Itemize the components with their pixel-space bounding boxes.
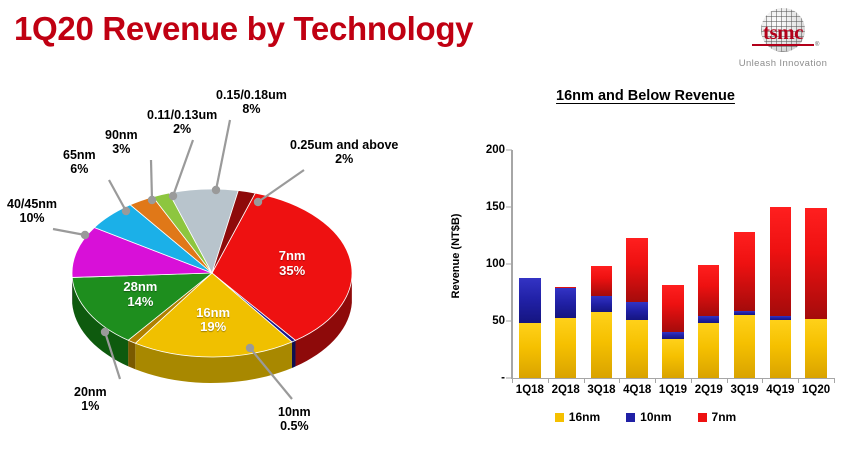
pie-slice-percent: 2% [335, 152, 353, 166]
pie-slice-percent: 0.5% [280, 419, 309, 433]
pie-leader-dot [148, 196, 156, 204]
bar-segment-16nm [519, 323, 540, 378]
pie-chart-svg [0, 80, 440, 457]
x-axis-tick-label: 1Q18 [516, 384, 544, 396]
pie-leader-dot [81, 231, 89, 239]
pie-slice-name: 16nm [196, 305, 230, 320]
slide-root: 1Q20 Revenue by Technology tsmc ® Unleas… [0, 0, 851, 457]
legend-swatch-icon [626, 413, 635, 422]
bar-segment-16nm [662, 339, 683, 378]
pie-slice-name: 90nm [105, 128, 138, 142]
x-axis-tick-label: 3Q19 [730, 384, 758, 396]
bar-segment-10nm [519, 278, 540, 324]
x-axis-tick-label: 4Q19 [766, 384, 794, 396]
pie-slice-percent: 1% [81, 399, 99, 413]
legend-item-10nm[interactable]: 10nm [626, 410, 671, 424]
stacked-bar[interactable] [519, 278, 540, 378]
pie-slice-name: 28nm [123, 279, 157, 294]
legend-label: 10nm [640, 410, 671, 424]
pie-callout-label: 40/45nm10% [7, 197, 57, 225]
y-axis-tick-mark [506, 321, 512, 322]
x-axis-tick-mark [619, 378, 620, 383]
pie-leader-line [109, 180, 126, 211]
pie-slice-percent: 10% [20, 211, 45, 225]
pie-leader-dot [212, 186, 220, 194]
x-axis-tick-mark [798, 378, 799, 383]
y-axis-tick-mark [506, 150, 512, 151]
pie-callout-label: 20nm1% [74, 385, 107, 413]
bar-chart-panel: 16nm and Below Revenue Revenue (NT$B) -5… [440, 80, 851, 457]
y-axis-tick-label: 200 [486, 144, 505, 156]
pie-slice-label: 16nm19% [173, 306, 253, 335]
tsmc-wordmark: tsmc [763, 20, 803, 45]
bar-segment-16nm [734, 315, 755, 378]
bar-chart-title: 16nm and Below Revenue [440, 88, 851, 104]
bar-segment-10nm [626, 302, 647, 320]
y-axis-tick-mark [506, 207, 512, 208]
pie-slice-name: 0.11/0.13um [147, 108, 217, 122]
pie-leader-line [216, 120, 230, 190]
bar-segment-16nm [805, 319, 826, 378]
bar-segment-16nm [770, 320, 791, 378]
stacked-bar[interactable] [698, 265, 719, 378]
bar-segment-10nm [555, 288, 576, 318]
legend-label: 16nm [569, 410, 600, 424]
bar-segment-10nm [591, 296, 612, 312]
page-title: 1Q20 Revenue by Technology [14, 10, 473, 48]
x-axis-tick-label: 3Q18 [587, 384, 615, 396]
y-axis-tick-label: 100 [486, 258, 505, 270]
bar-segment-16nm [626, 320, 647, 378]
y-axis-tick-mark [506, 264, 512, 265]
x-axis-tick-mark [727, 378, 728, 383]
y-axis-tick-label: - [501, 372, 505, 384]
bar-segment-16nm [591, 312, 612, 378]
pie-leader-dot [101, 328, 109, 336]
pie-slice-label: 28nm14% [100, 280, 180, 309]
bar-segment-7nm [770, 207, 791, 316]
x-axis-tick-mark [834, 378, 835, 383]
pie-slice-percent: 35% [279, 263, 305, 278]
bar-segment-10nm [698, 316, 719, 323]
y-axis-tick-label: 150 [486, 201, 505, 213]
pie-leader-line [173, 140, 193, 196]
stacked-bar[interactable] [591, 266, 612, 378]
x-axis-tick-mark [584, 378, 585, 383]
pie-chart-panel: 7nm35%10nm0.5%16nm19%20nm1%28nm14%40/45n… [0, 80, 440, 457]
x-axis-tick-mark [548, 378, 549, 383]
pie-slice-side [128, 340, 135, 369]
x-axis-tick-label: 2Q18 [552, 384, 580, 396]
pie-slice-percent: 8% [242, 102, 260, 116]
bar-segment-16nm [555, 318, 576, 378]
pie-leader-dot [122, 207, 130, 215]
bar-segment-7nm [698, 265, 719, 316]
bar-segment-7nm [626, 238, 647, 302]
pie-leader-line [151, 160, 152, 200]
bar-segment-10nm [662, 332, 683, 339]
pie-slice-percent: 2% [173, 122, 191, 136]
bar-segment-7nm [805, 208, 826, 319]
y-axis-title: Revenue (NT$B) [450, 196, 462, 316]
y-axis-tick-label: 50 [492, 315, 505, 327]
legend-swatch-icon [698, 413, 707, 422]
bar-segment-7nm [591, 266, 612, 296]
bar-segment-16nm [698, 323, 719, 378]
pie-leader-dot [254, 198, 262, 206]
pie-slice-percent: 6% [70, 162, 88, 176]
stacked-bar[interactable] [555, 287, 576, 378]
x-axis-tick-mark [691, 378, 692, 383]
pie-callout-label: 65nm6% [63, 148, 96, 176]
pie-slice-name: 40/45nm [7, 197, 57, 211]
tsmc-logo: tsmc ® Unleash Innovation [723, 8, 843, 69]
x-axis-tick-label: 2Q19 [695, 384, 723, 396]
stacked-bar[interactable] [626, 238, 647, 378]
stacked-bar[interactable] [662, 285, 683, 378]
logo-tagline: Unleash Innovation [723, 58, 843, 69]
legend-label: 7nm [712, 410, 737, 424]
pie-slice-percent: 19% [200, 319, 226, 334]
pie-slice-name: 0.15/0.18um [216, 88, 287, 102]
x-axis-tick-mark [762, 378, 763, 383]
x-axis-tick-mark [655, 378, 656, 383]
pie-callout-label: 0.11/0.13um2% [147, 108, 217, 136]
x-axis-tick-mark [512, 378, 513, 383]
bar-chart-legend: 16nm10nm7nm [440, 410, 851, 424]
logo-mark: tsmc ® [723, 8, 843, 52]
pie-slice-label: 7nm35% [252, 249, 332, 278]
pie-callout-label: 0.15/0.18um8% [216, 88, 287, 116]
bar-segment-7nm [734, 232, 755, 311]
legend-item-16nm[interactable]: 16nm [555, 410, 600, 424]
stacked-bar[interactable] [805, 208, 826, 378]
pie-slice-name: 20nm [74, 385, 107, 399]
pie-leader-dot [169, 192, 177, 200]
pie-callout-label: 0.25um and above2% [290, 138, 398, 166]
legend-swatch-icon [555, 413, 564, 422]
pie-slice-name: 65nm [63, 148, 96, 162]
bar-segment-7nm [662, 285, 683, 333]
pie-leader-dot [246, 344, 254, 352]
x-axis-tick-label: 1Q19 [659, 384, 687, 396]
pie-leader-line [258, 170, 304, 202]
pie-callout-label: 90nm3% [105, 128, 138, 156]
pie-slice-percent: 14% [127, 294, 153, 309]
pie-slice-name: 0.25um and above [290, 138, 398, 152]
stacked-bar[interactable] [734, 232, 755, 378]
stacked-bar[interactable] [770, 207, 791, 378]
pie-slice-percent: 3% [112, 142, 130, 156]
pie-slice-name: 10nm [278, 405, 311, 419]
logo-underline [752, 44, 814, 46]
x-axis-tick-label: 1Q20 [802, 384, 830, 396]
legend-item-7nm[interactable]: 7nm [698, 410, 737, 424]
pie-leader-line [53, 229, 85, 235]
pie-callout-label: 10nm0.5% [278, 405, 311, 433]
bar-plot-area: -50100150200 1Q182Q183Q184Q181Q192Q193Q1… [512, 150, 834, 378]
pie-slice-side [292, 340, 296, 368]
pie-slice-name: 7nm [279, 248, 306, 263]
registered-icon: ® [815, 42, 819, 48]
x-axis-tick-label: 4Q18 [623, 384, 651, 396]
